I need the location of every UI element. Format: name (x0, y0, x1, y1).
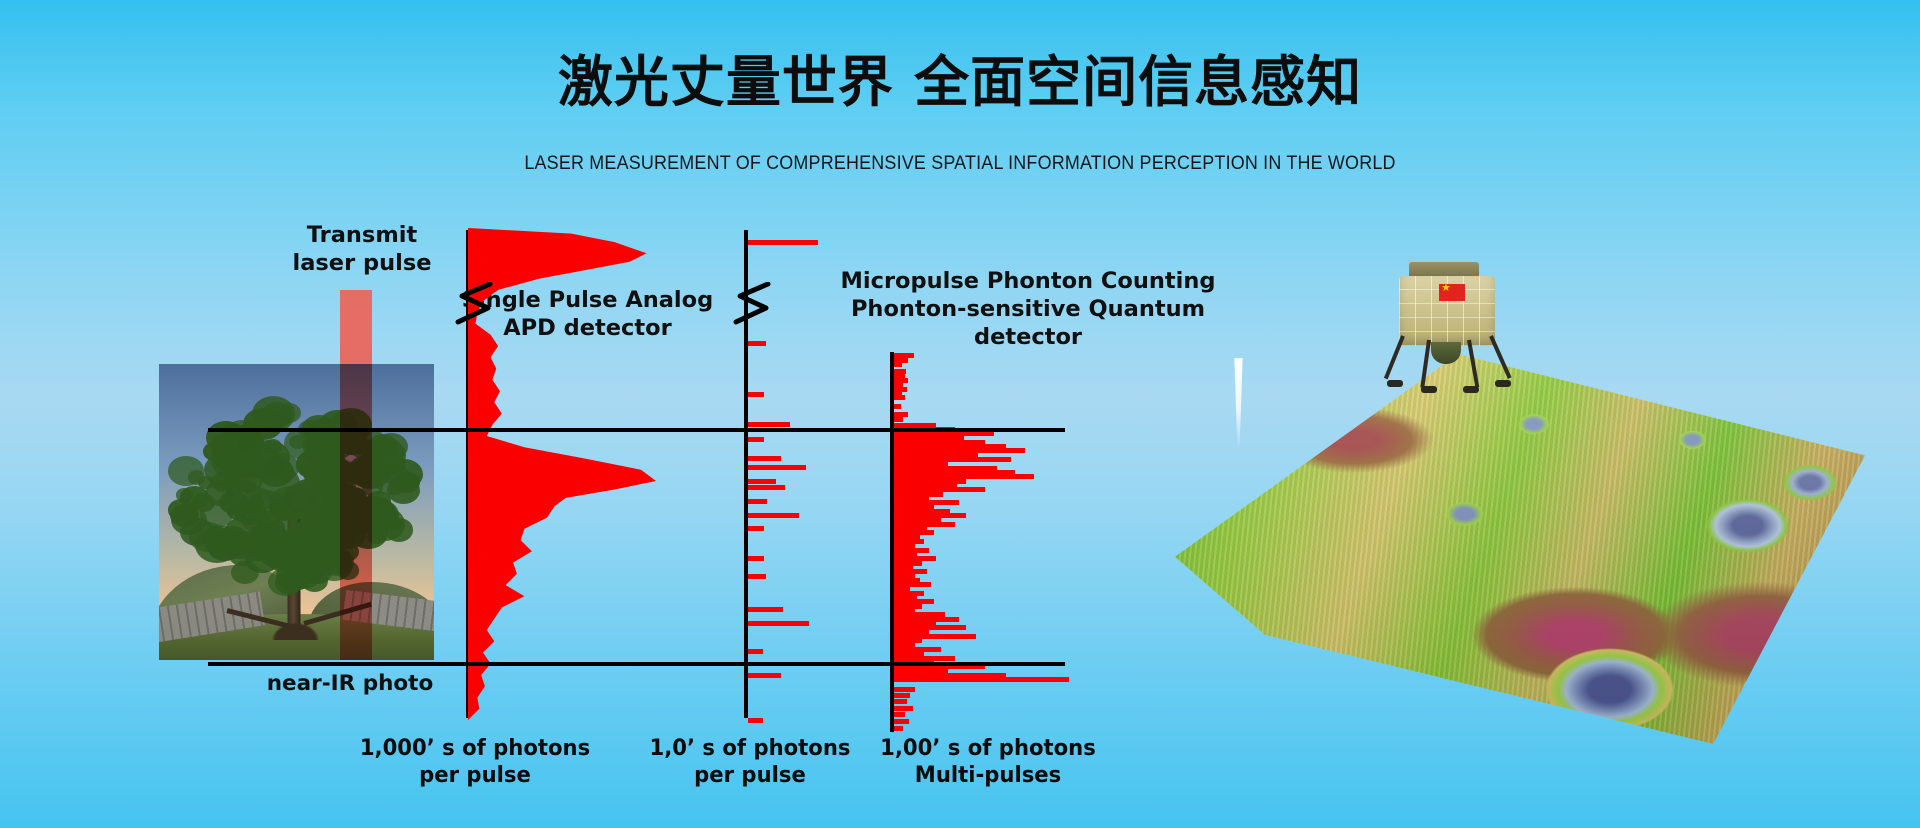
canopy-leaf-cluster (212, 433, 239, 455)
bar (748, 240, 818, 245)
bar (748, 649, 763, 654)
canopy-leaf-cluster (252, 396, 295, 432)
bar (748, 392, 764, 397)
chart3-bars (894, 352, 1114, 732)
colorized-dem-terrain (1175, 354, 1865, 744)
china-flag-icon (1439, 284, 1465, 301)
lander-foot-3 (1463, 386, 1479, 393)
near-ir-tree-photo (159, 364, 434, 660)
lander-foot-4 (1495, 380, 1511, 387)
bar (894, 699, 907, 704)
bar (748, 422, 790, 427)
bar (894, 712, 905, 717)
lunar-scene (1175, 258, 1865, 758)
canopy-leaf-cluster (170, 504, 199, 527)
bar (748, 437, 764, 442)
bar (748, 574, 766, 579)
footer-chart2-caption: 1,0’ s of photons per pulse (628, 735, 872, 790)
bar (894, 677, 1069, 682)
bar (894, 417, 903, 422)
bar (894, 362, 902, 367)
ground-reference-line-photo (208, 662, 348, 666)
bar (748, 621, 809, 626)
lander-body (1399, 276, 1495, 346)
canopy-leaf-cluster (207, 531, 243, 561)
bar (748, 673, 781, 678)
canopy-leaf-cluster (198, 476, 214, 489)
bar (894, 693, 910, 698)
lunar-lander (1383, 260, 1513, 392)
canopy-reference-line-photo (208, 428, 348, 432)
bar (894, 706, 913, 711)
chart1-axis-break-icon (440, 282, 500, 332)
page-subtitle: LASER MEASUREMENT OF COMPREHENSIVE SPATI… (77, 152, 1843, 175)
bar (748, 485, 785, 490)
canopy-reference-line (345, 428, 1065, 432)
bar (748, 456, 781, 461)
bar (894, 687, 915, 692)
label-transmit-laser-pulse: Transmit laser pulse (272, 222, 452, 278)
ground-reference-line (345, 662, 1065, 666)
bar (748, 513, 799, 518)
bar (748, 607, 783, 612)
footer-chart3-caption: 1,00’ s of photons Multi-pulses (866, 735, 1110, 790)
canopy-leaf-cluster (283, 484, 317, 512)
label-near-ir-photo: near-IR photo (240, 671, 460, 698)
bar (894, 395, 905, 400)
bar (748, 479, 776, 484)
bar (894, 719, 909, 724)
bar (894, 404, 901, 409)
lander-leg-3 (1467, 340, 1479, 388)
bar (748, 526, 764, 531)
bar (748, 556, 764, 561)
lander-leg-4 (1489, 335, 1511, 379)
lander-leg-1 (1384, 335, 1405, 379)
bar (748, 465, 806, 470)
lander-foot-2 (1421, 386, 1437, 393)
bar (894, 726, 903, 731)
terrain-shading (1175, 354, 1865, 744)
canopy-leaf-cluster (394, 472, 419, 493)
bar (748, 499, 767, 504)
lander-foot-1 (1387, 380, 1403, 387)
bar (748, 341, 766, 346)
lander-engine-nozzle (1431, 342, 1461, 364)
canopy-leaf-cluster (282, 543, 315, 570)
canopy-leaf-cluster (231, 561, 259, 584)
laser-beam-above-photo (340, 290, 372, 364)
chart2-axis-break-icon (718, 282, 778, 332)
bar (748, 718, 763, 723)
page-title: 激光丈量世界 全面空间信息感知 (0, 52, 1920, 113)
lander-leg-2 (1420, 340, 1431, 388)
poster-canvas: 激光丈量世界 全面空间信息感知 LASER MEASUREMENT OF COM… (0, 0, 1920, 828)
engine-plume (1232, 358, 1245, 450)
footer-chart1-caption: 1,000’ s of photons per pulse (339, 735, 612, 790)
